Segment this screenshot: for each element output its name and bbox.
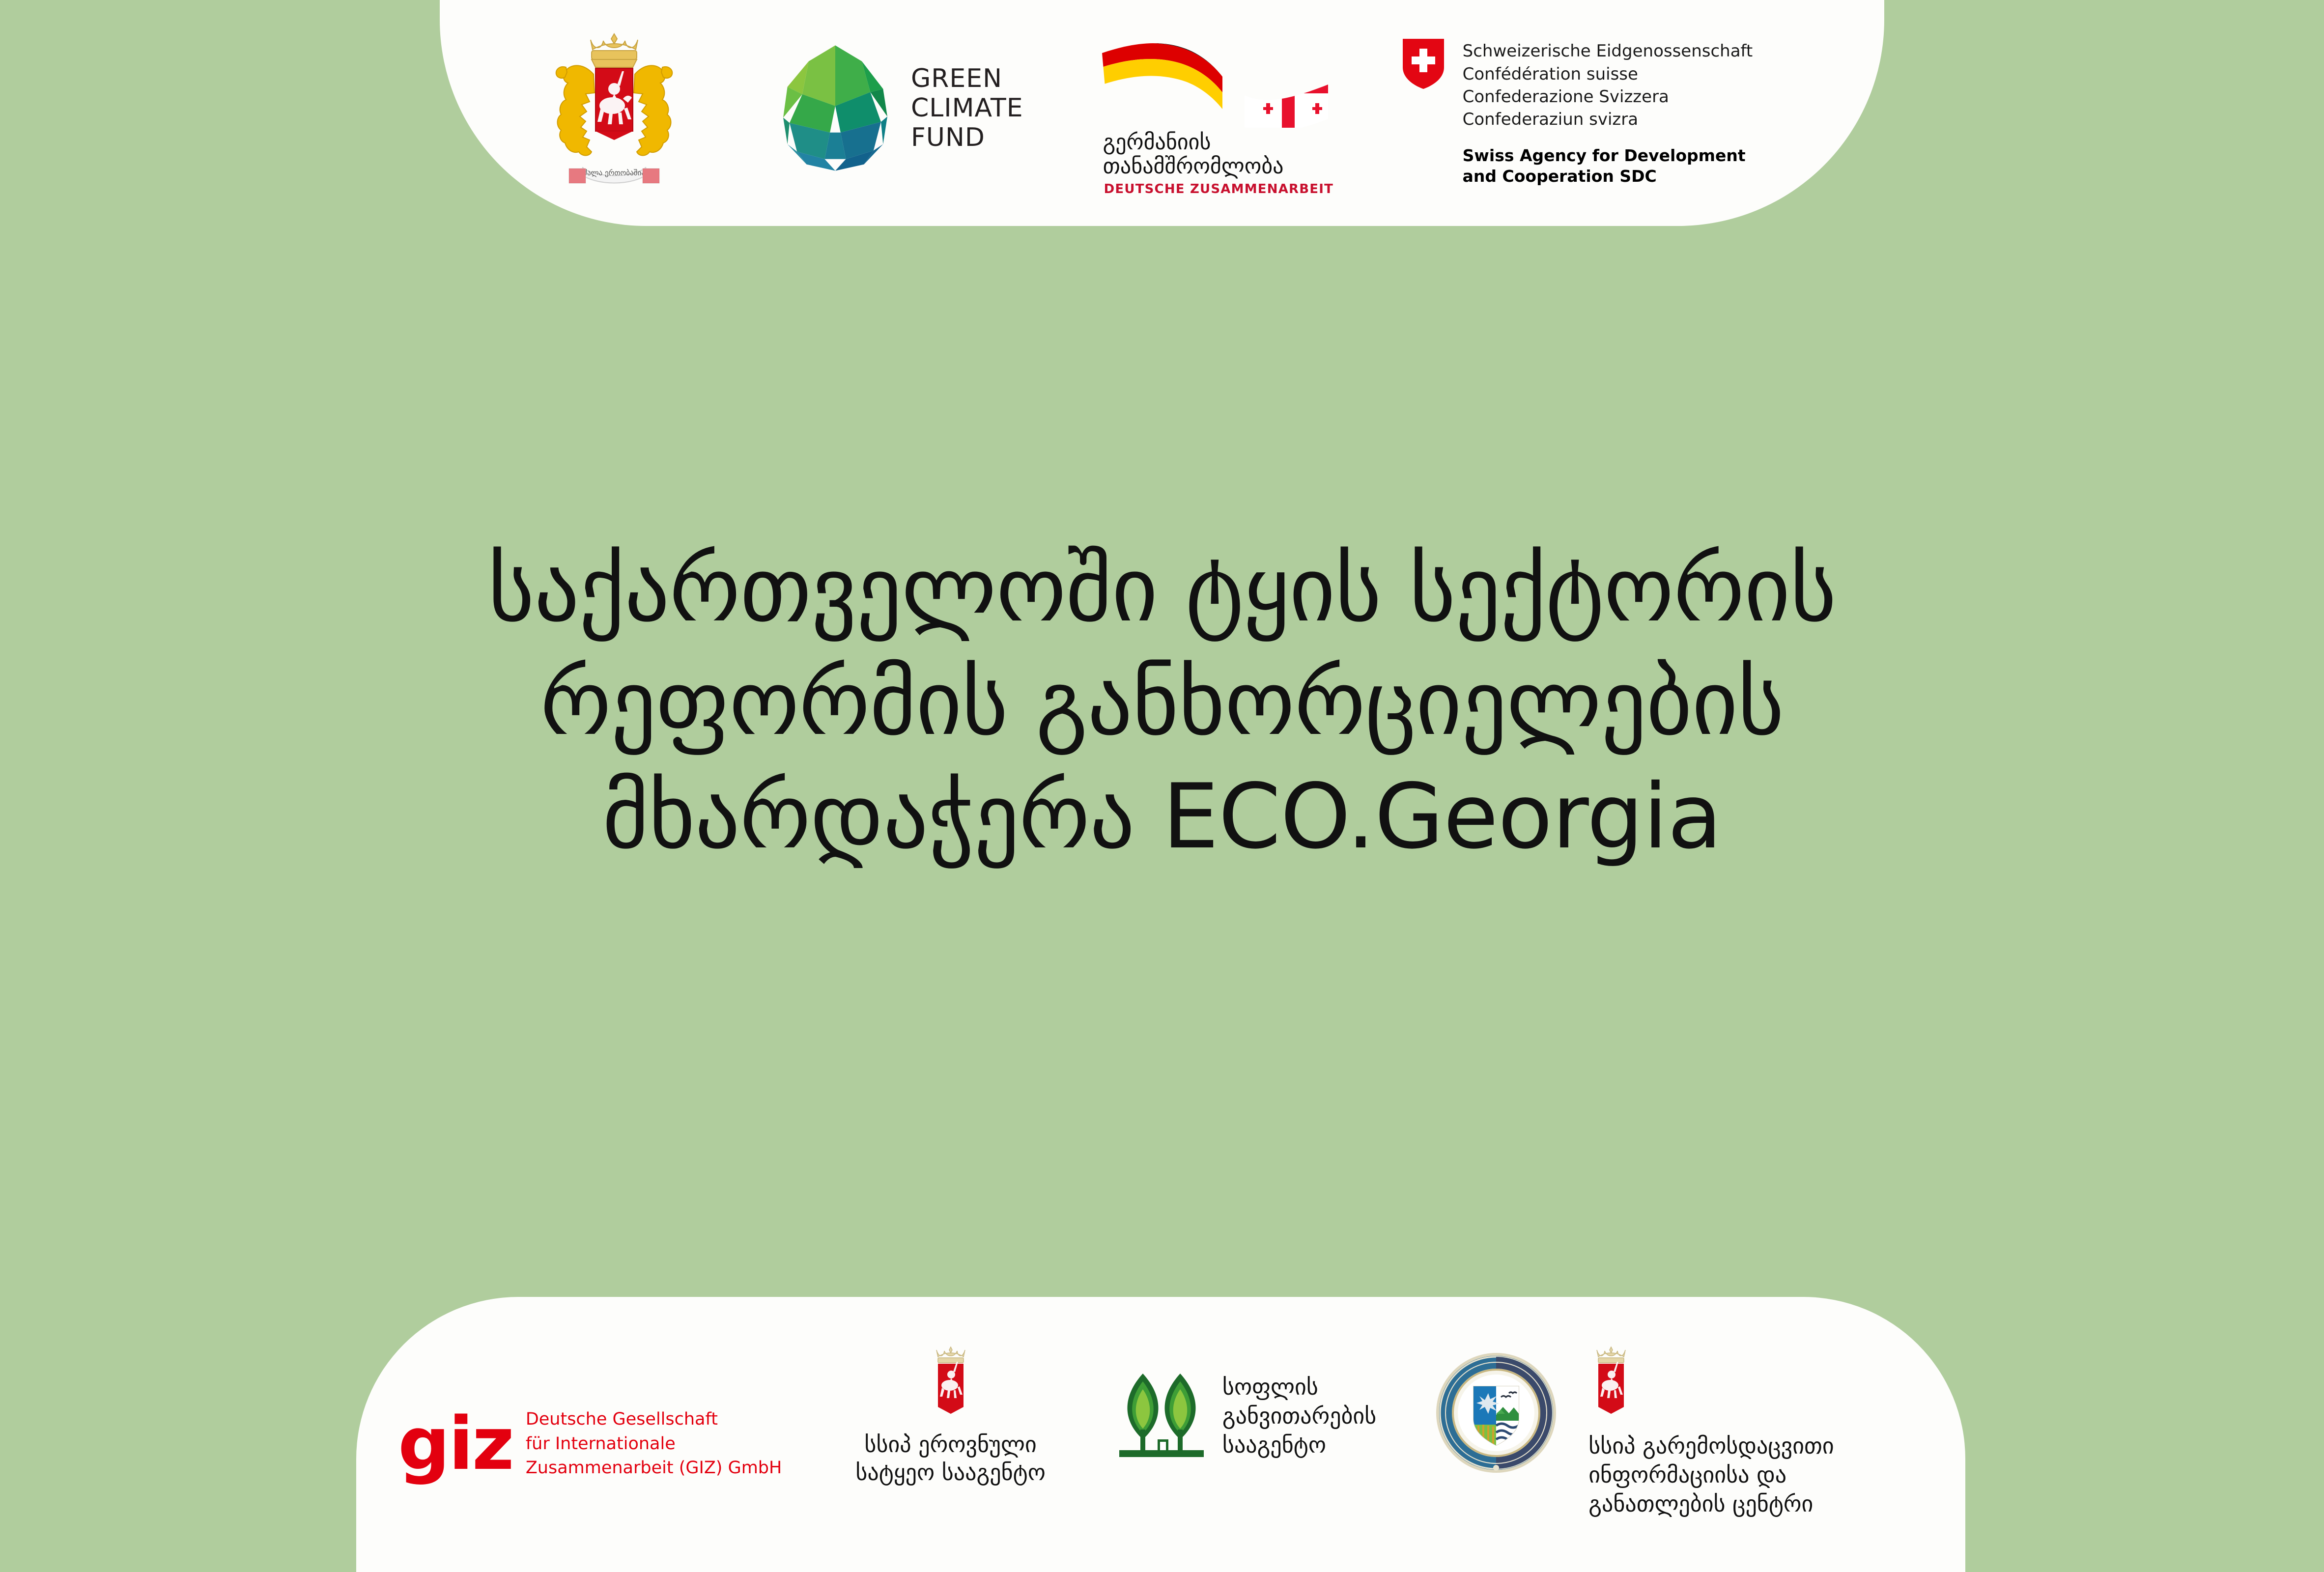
rda-caption-line-1: სოფლის	[1222, 1373, 1376, 1402]
ministry-emblem-logo	[1435, 1352, 1557, 1474]
nfa-caption-line-2: სატყეო სააგენტო	[855, 1459, 1046, 1487]
national-forestry-agency-logo: სსიპ ეროვნული სატყეო სააგენტო	[855, 1346, 1046, 1487]
swiss-sdc-logo: Schweizerische Eidgenossenschaft Confédé…	[1401, 29, 1753, 187]
top-partner-logo-row: ძალა ერთობაშია	[540, 5, 1798, 211]
rural-development-agency-caption: სოფლის განვითარების სააგენტო	[1222, 1373, 1376, 1460]
german-cooperation-german-text: DEUTSCHE ZUSAMMENARBEIT	[1104, 182, 1333, 196]
bottom-partner-logo-row: giz Deutsche Gesellschaft für Internatio…	[398, 1346, 1931, 1523]
gcf-wordmark: GREEN CLIMATE FUND	[911, 64, 1023, 153]
rural-development-agency-logo: სოფლის განვითარების სააგენტო	[1114, 1371, 1376, 1461]
gcf-line-3: FUND	[911, 123, 1023, 152]
title-line-1: საქართველოში ტყის სექტორის	[0, 533, 2324, 646]
georgia-coat-of-arms-logo: ძალა ერთობაშია	[540, 27, 688, 189]
swiss-agency-name: Swiss Agency for Development and Coopera…	[1463, 145, 1753, 187]
eic-caption-line-1: სსიპ გარემოსდაცვითი	[1588, 1432, 1834, 1460]
german-georgian-flag-ribbon-icon	[1097, 29, 1338, 142]
title-line-3: მხარდაჭერა ECO.Georgia	[0, 760, 2324, 873]
gcf-line-2: CLIMATE	[911, 93, 1023, 123]
german-cooperation-logo: გერმანიის თანამშრომლობა DEUTSCHE ZUSAMME…	[1097, 20, 1338, 196]
ministry-seal-icon	[1435, 1352, 1557, 1474]
rda-caption-line-3: სააგენტო	[1222, 1431, 1376, 1460]
swiss-lang-fr: Confédération suisse	[1463, 63, 1753, 85]
gcf-globe-icon	[776, 43, 894, 173]
title-line-2: რეფორმის განხორციელების	[0, 646, 2324, 760]
german-cooperation-georgian-text: გერმანიის თანამშრომლობა	[1103, 130, 1339, 179]
environmental-info-education-centre-logo: სსიპ გარემოსდაცვითი ინფორმაციისა და განა…	[1588, 1346, 1834, 1518]
german-cooperation-ka-line-2: თანამშრომლობა	[1103, 154, 1339, 178]
green-climate-fund-logo: GREEN CLIMATE FUND	[776, 43, 1023, 173]
environmental-centre-caption: სსიპ გარემოსდაცვითი ინფორმაციისა და განა…	[1588, 1432, 1834, 1518]
national-forestry-agency-caption: სსიპ ეროვნული სატყეო სააგენტო	[855, 1431, 1046, 1487]
swiss-lang-rm: Confederaziun svizra	[1463, 108, 1753, 131]
giz-sub-line-2: für Internationale	[526, 1432, 782, 1457]
nfa-caption-line-1: სსიპ ეროვნული	[855, 1431, 1046, 1459]
eic-caption-line-2: ინფორმაციისა და	[1588, 1460, 1834, 1489]
german-cooperation-ka-line-1: გერმანიის	[1103, 130, 1339, 154]
svg-text:ძალა ერთობაშია: ძალა ერთობაშია	[583, 168, 645, 177]
swiss-agency-line-2: and Cooperation SDC	[1463, 166, 1753, 187]
giz-subtitle: Deutsche Gesellschaft für Internationale…	[526, 1407, 782, 1481]
eic-caption-line-3: განათლების ცენტრი	[1588, 1489, 1834, 1518]
gcf-line-1: GREEN	[911, 64, 1023, 93]
giz-wordmark: giz	[398, 1414, 513, 1474]
swiss-lang-it: Confederazione Svizzera	[1463, 85, 1753, 108]
two-trees-icon	[1114, 1371, 1209, 1461]
giz-sub-line-3: Zusammenarbeit (GIZ) GmbH	[526, 1456, 782, 1481]
swiss-agency-line-1: Swiss Agency for Development	[1463, 145, 1753, 166]
georgia-small-coat-of-arms-icon	[928, 1346, 973, 1419]
georgia-coat-of-arms-icon: ძალა ერთობაშია	[540, 27, 688, 189]
swiss-shield-icon	[1401, 38, 1446, 90]
giz-logo: giz Deutsche Gesellschaft für Internatio…	[398, 1407, 782, 1481]
swiss-text-block: Schweizerische Eidgenossenschaft Confédé…	[1463, 38, 1753, 187]
giz-sub-line-1: Deutsche Gesellschaft	[526, 1407, 782, 1432]
swiss-lang-de: Schweizerische Eidgenossenschaft	[1463, 40, 1753, 62]
page-title: საქართველოში ტყის სექტორის რეფორმის განხ…	[0, 533, 2324, 873]
rda-caption-line-2: განვითარების	[1222, 1402, 1376, 1431]
georgia-small-coat-of-arms-icon-2	[1588, 1346, 1634, 1419]
